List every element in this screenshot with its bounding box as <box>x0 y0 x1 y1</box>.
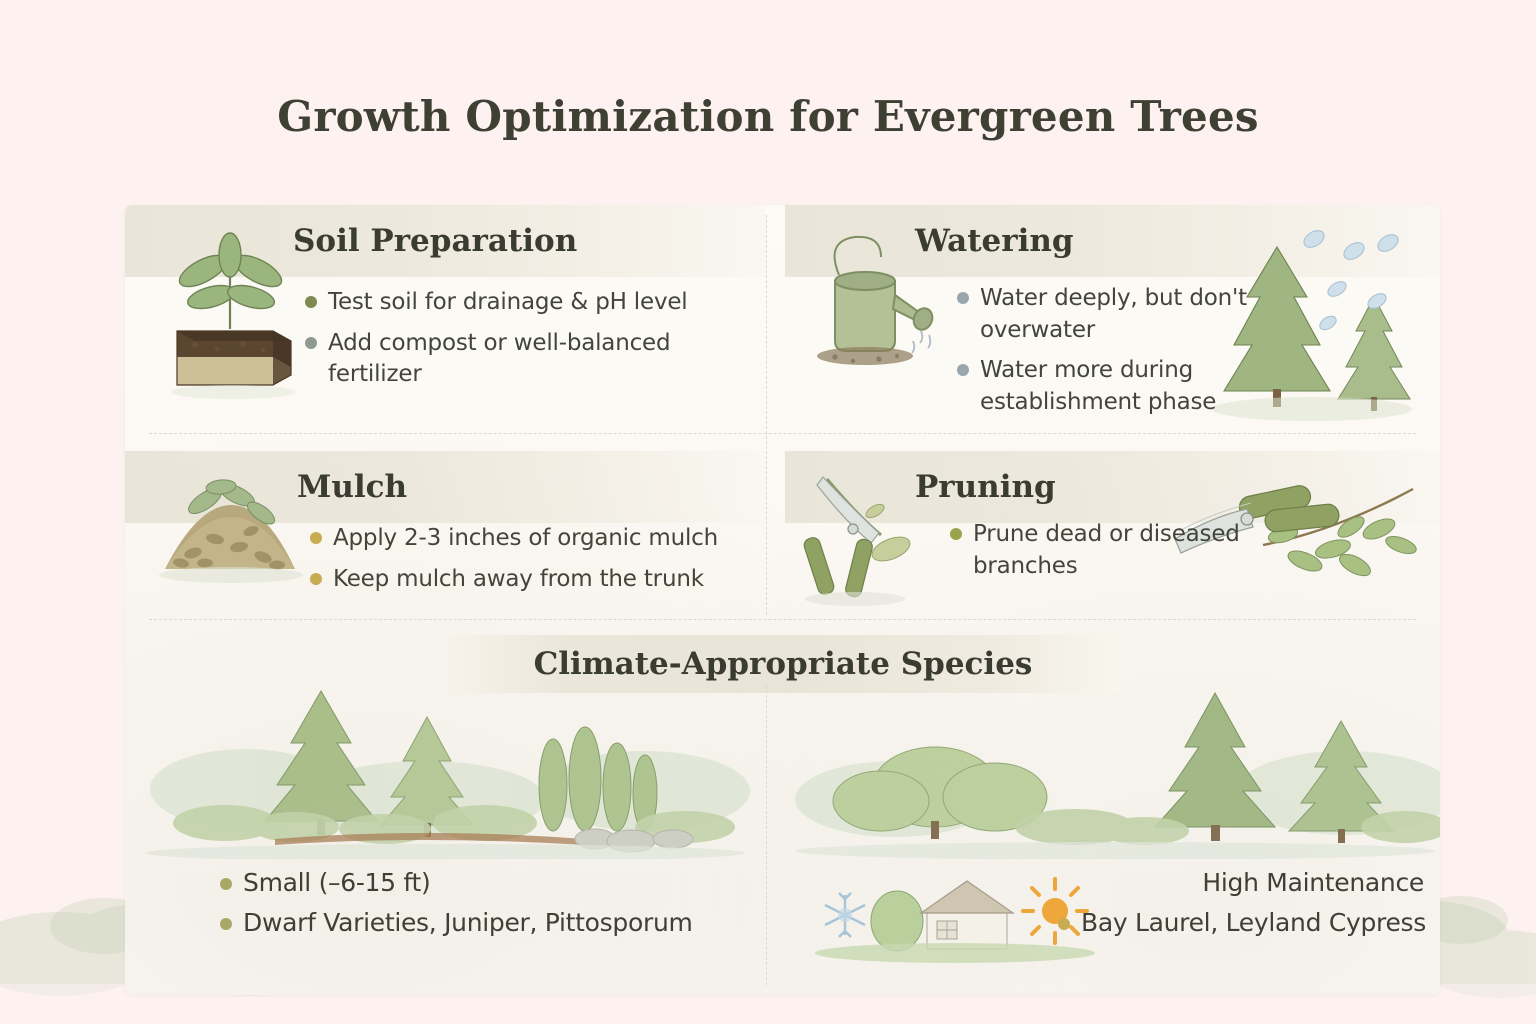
evergreen-garden-landscape-icon <box>125 681 766 859</box>
list-item: Water deeply, but don't overwater <box>957 283 1247 346</box>
list-item: High Maintenance <box>1058 867 1426 900</box>
bullet-list-soil: Test soil for drainage & pH level Add co… <box>305 287 745 400</box>
divider-horizontal-bottom <box>149 619 1416 620</box>
divider-vertical-bottom <box>766 685 767 985</box>
bullet-list-pruning: Prune dead or diseased branches <box>950 519 1250 591</box>
panel-mulch: Mulch Apply 2-3 inches of organic mulch … <box>125 451 766 616</box>
bullet-dot <box>950 528 962 540</box>
panel-header-band-pruning: Pruning <box>785 451 1440 523</box>
section-title-climate-species: Climate-Appropriate Species <box>534 646 1033 682</box>
bullet-text: Add compost or well-balanced fertilizer <box>328 328 745 391</box>
bullet-text: Water deeply, but don't overwater <box>980 283 1247 346</box>
climate-right-list: High Maintenance Bay Laurel, Leyland Cyp… <box>1058 867 1426 946</box>
list-item: Test soil for drainage & pH level <box>305 287 745 319</box>
section-header-band-climate: Climate-Appropriate Species <box>447 635 1119 693</box>
panel-title-mulch: Mulch <box>297 469 407 505</box>
bullet-dot <box>957 292 969 304</box>
divider-vertical-top <box>766 215 767 615</box>
list-item-text: Small (–6-15 ft) <box>243 867 430 900</box>
bullet-dot <box>305 296 317 308</box>
bullet-dot <box>957 364 969 376</box>
list-item-text: Bay Laurel, Leyland Cypress <box>1081 907 1426 940</box>
bullet-dot <box>220 878 232 890</box>
list-item: Prune dead or diseased branches <box>950 519 1250 582</box>
panel-title-watering: Watering <box>915 223 1074 259</box>
section-climate-appropriate-species: Climate-Appropriate Species <box>125 619 1440 995</box>
bullet-dot <box>220 918 232 930</box>
bullet-dot <box>310 573 322 585</box>
bullet-text: Apply 2-3 inches of organic mulch <box>333 523 718 555</box>
bullet-text: Prune dead or diseased branches <box>973 519 1250 582</box>
list-item: Small (–6-15 ft) <box>220 867 693 900</box>
bullet-dot <box>310 532 322 544</box>
page-title: Growth Optimization for Evergreen Trees <box>0 92 1536 141</box>
bullet-list-mulch: Apply 2-3 inches of organic mulch Keep m… <box>310 523 760 604</box>
panel-watering: Watering Water deeply, but don't overwat… <box>785 205 1440 433</box>
bullet-dot <box>1058 918 1070 930</box>
list-item: Water more during establishment phase <box>957 355 1247 418</box>
divider-horizontal-top <box>149 433 1416 434</box>
infographic-card: Soil Preparation Test soil for drainage … <box>125 205 1440 995</box>
climate-right-column: High Maintenance Bay Laurel, Leyland Cyp… <box>785 681 1440 995</box>
list-item: Apply 2-3 inches of organic mulch <box>310 523 760 555</box>
panel-soil-preparation: Soil Preparation Test soil for drainage … <box>125 205 766 433</box>
bullet-text: Test soil for drainage & pH level <box>328 287 688 319</box>
bullet-text: Keep mulch away from the trunk <box>333 564 704 596</box>
list-item: Bay Laurel, Leyland Cypress <box>1058 907 1426 940</box>
climate-left-column: Small (–6-15 ft) Dwarf Varieties, Junipe… <box>125 681 766 995</box>
list-item: Keep mulch away from the trunk <box>310 564 760 596</box>
list-item: Dwarf Varieties, Juniper, Pittosporum <box>220 907 693 940</box>
panel-header-band-soil: Soil Preparation <box>125 205 766 277</box>
mixed-tree-landscape-icon <box>785 681 1440 859</box>
climate-left-list: Small (–6-15 ft) Dwarf Varieties, Junipe… <box>220 867 693 946</box>
list-item-text: Dwarf Varieties, Juniper, Pittosporum <box>243 907 693 940</box>
panel-pruning: Pruning Prune dead or diseased branches <box>785 451 1440 616</box>
panel-header-band-mulch: Mulch <box>125 451 766 523</box>
panel-title-pruning: Pruning <box>915 469 1056 505</box>
panel-header-band-watering: Watering <box>785 205 1440 277</box>
bullet-list-watering: Water deeply, but don't overwater Water … <box>957 283 1247 428</box>
list-item: Add compost or well-balanced fertilizer <box>305 328 745 391</box>
list-item-text: High Maintenance <box>1202 867 1424 900</box>
panel-title-soil-preparation: Soil Preparation <box>293 223 577 259</box>
bullet-dot <box>305 337 317 349</box>
bullet-text: Water more during establishment phase <box>980 355 1247 418</box>
